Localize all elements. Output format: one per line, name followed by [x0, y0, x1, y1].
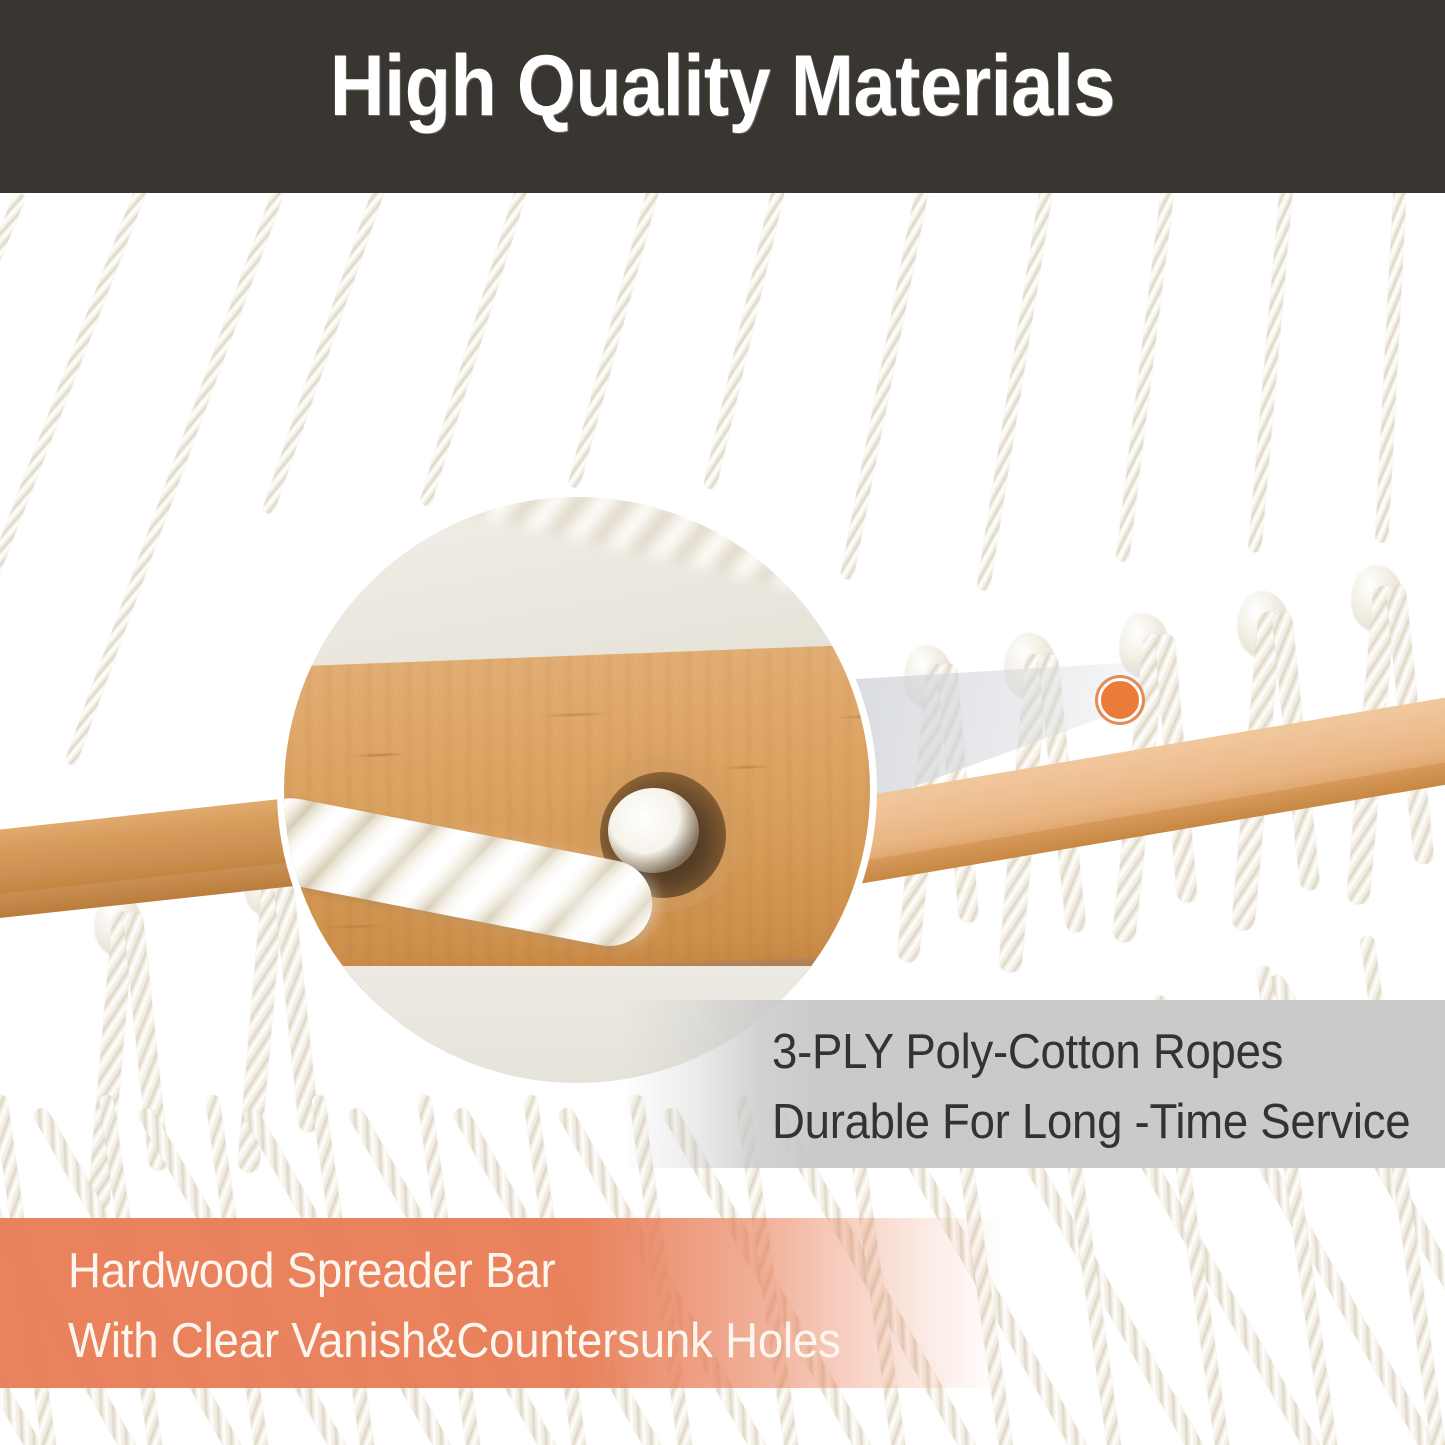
rope-strand [0, 193, 26, 715]
rope-strand [1248, 193, 1295, 553]
rope-strand [1375, 193, 1408, 543]
callout-ropes-line2: Durable For Long -Time Service [772, 1088, 1410, 1157]
page-title: High Quality Materials [87, 43, 1359, 129]
product-feature-image: High Quality Materials [0, 0, 1445, 1445]
callout-ropes-line1: 3-PLY Poly-Cotton Ropes [772, 1018, 1283, 1087]
rope-strand [419, 193, 533, 507]
rope-strand [703, 193, 790, 490]
rope-strand [0, 193, 149, 745]
rope-strand [262, 193, 391, 515]
callout-spreader-bar-line1: Hardwood Spreader Bar [68, 1236, 556, 1306]
magnifier-target-marker [1098, 678, 1142, 722]
header-bar: High Quality Materials [0, 0, 1445, 193]
rope-strand [567, 193, 664, 489]
rope-strand [976, 193, 1056, 591]
callout-spreader-bar-line2: With Clear Vanish&Countersunk Holes [68, 1306, 841, 1376]
callout-spreader-bar: Hardwood Spreader Bar With Clear Vanish&… [0, 1218, 1000, 1388]
rope-strand [1116, 193, 1178, 562]
callout-ropes: 3-PLY Poly-Cotton Ropes Durable For Long… [620, 1000, 1445, 1168]
rope-strand [64, 193, 287, 766]
